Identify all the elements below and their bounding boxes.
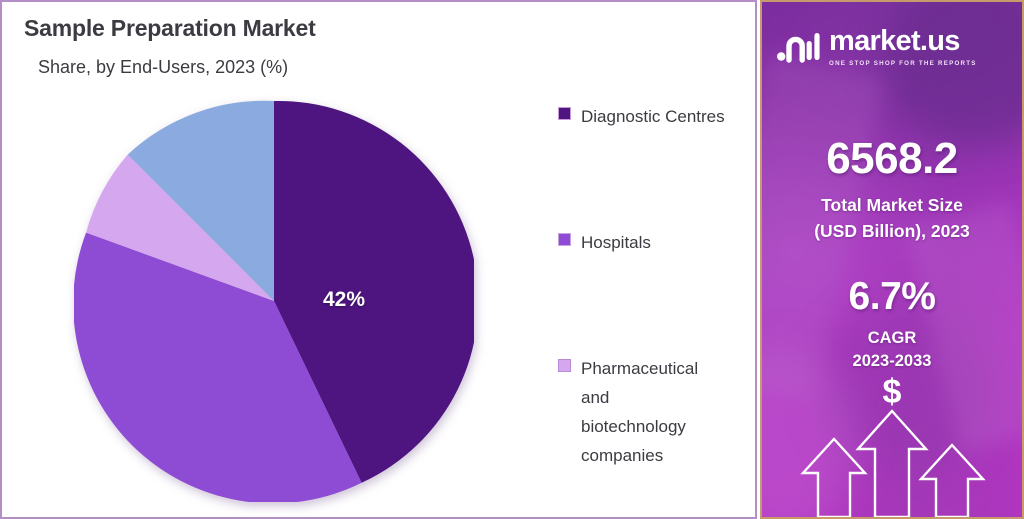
brand-stats-panel: market.us ONE STOP SHOP FOR THE REPORTS … <box>760 0 1024 519</box>
logo-wordmark: market.us <box>829 27 977 56</box>
cagr-value: 6.7% <box>762 275 1022 319</box>
logo-text-block: market.us ONE STOP SHOP FOR THE REPORTS <box>829 27 977 67</box>
chart-subtitle: Share, by End-Users, 2023 (%) <box>38 57 288 78</box>
growth-arrow-right-icon <box>921 445 983 517</box>
logo-tagline: ONE STOP SHOP FOR THE REPORTS <box>829 60 977 67</box>
total-market-size-value: 6568.2 <box>762 134 1022 184</box>
legend-item-hospitals[interactable]: Hospitals <box>558 228 651 257</box>
growth-arrow-center-icon <box>858 411 926 517</box>
pie-chart: 42% <box>74 100 474 502</box>
legend-label-hospitals: Hospitals <box>581 228 651 257</box>
cagr-label: CAGR 2023-2033 <box>762 327 1022 373</box>
legend-label-diagnostic-centres: Diagnostic Centres <box>581 102 725 131</box>
legend-item-diagnostic-centres[interactable]: Diagnostic Centres <box>558 102 725 131</box>
legend-swatch-hospitals <box>558 233 571 246</box>
chart-panel: Sample Preparation Market Share, by End-… <box>0 0 757 519</box>
market-infographic: Sample Preparation Market Share, by End-… <box>0 0 1024 519</box>
brand-logo[interactable]: market.us ONE STOP SHOP FOR THE REPORTS <box>776 24 1012 70</box>
growth-arrows-graphic: $ <box>762 377 1022 517</box>
legend-item-pharmaceutical-biotechnology[interactable]: Pharmaceutical and biotechnology compani… <box>558 354 698 470</box>
legend-label-pharmaceutical-biotechnology: Pharmaceutical and biotechnology compani… <box>581 354 698 470</box>
growth-arrow-left-icon <box>803 439 865 517</box>
background-blob-top-right <box>882 0 1024 147</box>
legend-swatch-diagnostic-centres <box>558 107 571 120</box>
chart-title: Sample Preparation Market <box>24 15 316 42</box>
pie-slice-data-label: 42% <box>323 288 365 312</box>
dollar-sign-icon: $ <box>883 377 902 411</box>
legend-swatch-pharmaceutical-biotechnology <box>558 359 571 372</box>
total-market-size-label: Total Market Size (USD Billion), 2023 <box>762 192 1022 244</box>
pie-chart-svg <box>74 100 474 502</box>
market-us-logo-icon <box>776 27 820 67</box>
